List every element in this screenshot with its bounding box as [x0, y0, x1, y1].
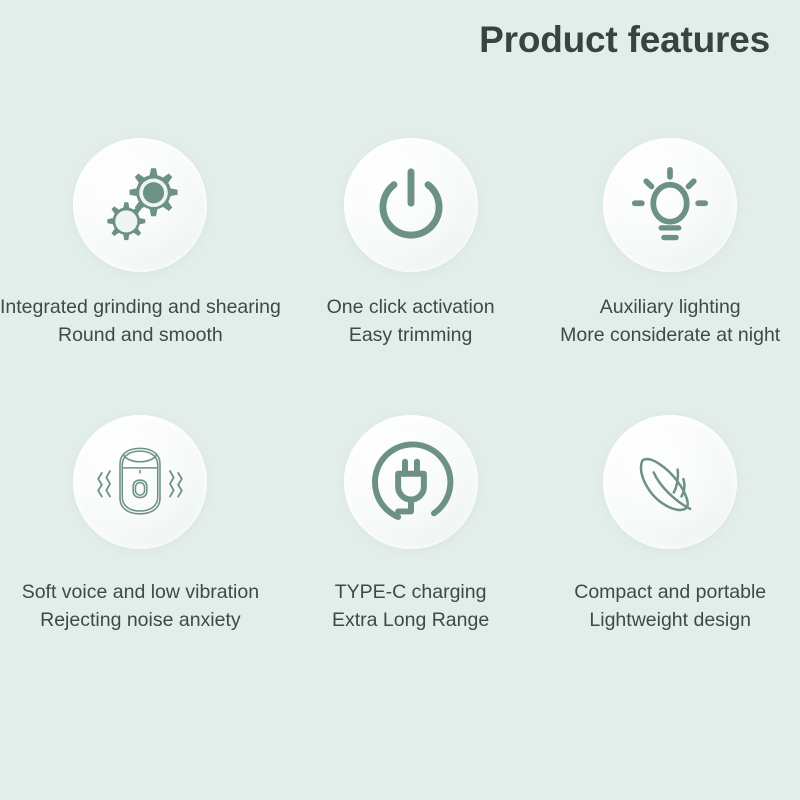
icon-bubble — [73, 415, 207, 549]
feature-caption: Soft voice and low vibration Rejecting n… — [22, 579, 259, 634]
feature-caption: Integrated grinding and shearing Round a… — [0, 294, 281, 349]
caption-line-2: Rejecting noise anxiety — [22, 607, 259, 635]
feature-card-power: One click activation Easy trimming — [281, 100, 541, 395]
power-plug-icon — [365, 436, 457, 528]
caption-line-1: Auxiliary lighting — [600, 296, 741, 318]
gears-icon — [94, 159, 186, 251]
icon-bubble — [73, 138, 207, 272]
power-button-icon — [365, 159, 457, 251]
caption-line-1: TYPE-C charging — [335, 581, 487, 603]
feature-caption: Compact and portable Lightweight design — [574, 579, 766, 634]
feather-icon — [622, 434, 718, 530]
caption-line-1: One click activation — [327, 296, 495, 318]
icon-bubble — [603, 415, 737, 549]
feature-card-portable: Compact and portable Lightweight design — [540, 395, 800, 690]
feature-caption: One click activation Easy trimming — [327, 294, 495, 349]
icon-bubble — [344, 138, 478, 272]
caption-line-2: Extra Long Range — [332, 607, 489, 635]
caption-line-1: Compact and portable — [574, 581, 766, 603]
lightbulb-icon — [626, 161, 714, 249]
caption-line-1: Soft voice and low vibration — [22, 581, 259, 603]
icon-bubble — [344, 415, 478, 549]
caption-line-2: More considerate at night — [560, 322, 780, 350]
caption-line-2: Easy trimming — [327, 322, 495, 350]
feature-caption: Auxiliary lighting More considerate at n… — [560, 294, 780, 349]
feature-card-charging: TYPE-C charging Extra Long Range — [281, 395, 541, 690]
caption-line-1: Integrated grinding and shearing — [0, 296, 281, 318]
feature-card-vibration: Soft voice and low vibration Rejecting n… — [0, 395, 281, 690]
product-features-page: Product features — [0, 0, 800, 800]
icon-bubble — [603, 138, 737, 272]
page-title: Product features — [479, 20, 770, 61]
caption-line-2: Round and smooth — [0, 322, 281, 350]
feature-card-gears: Integrated grinding and shearing Round a… — [0, 100, 281, 395]
features-grid: Integrated grinding and shearing Round a… — [0, 100, 800, 690]
caption-line-2: Lightweight design — [574, 607, 766, 635]
feature-card-lighting: Auxiliary lighting More considerate at n… — [540, 100, 800, 395]
vibrating-trimmer-icon — [90, 432, 190, 532]
feature-caption: TYPE-C charging Extra Long Range — [332, 579, 489, 634]
